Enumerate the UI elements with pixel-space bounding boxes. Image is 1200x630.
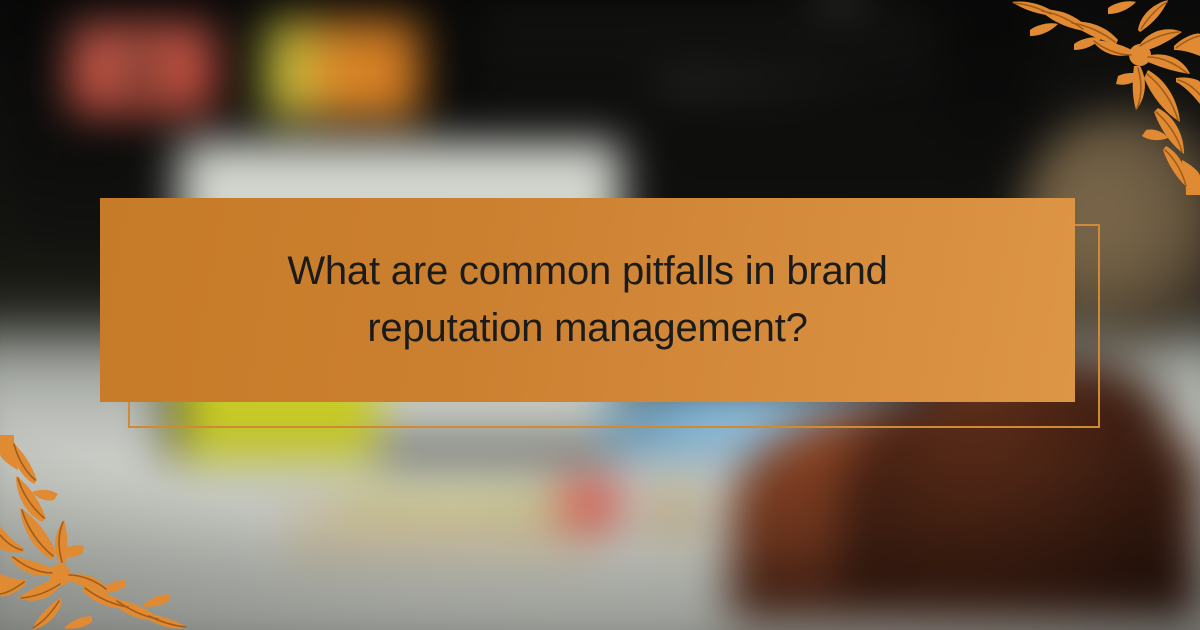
- background-desk-wood: [290, 500, 590, 560]
- share-card-canvas: What are common pitfalls in brand reputa…: [0, 0, 1200, 630]
- background-pencil: [340, 495, 580, 507]
- background-dark-screen: [480, 0, 940, 120]
- background-orange-poster: [265, 18, 420, 116]
- question-card: What are common pitfalls in brand reputa…: [100, 198, 1075, 402]
- background-red-poster: [70, 22, 215, 112]
- background-shelf-line: [660, 78, 860, 88]
- background-cup: [650, 480, 696, 538]
- background-red-mug: [560, 478, 620, 530]
- question-text: What are common pitfalls in brand reputa…: [238, 243, 938, 357]
- background-screen-glow: [805, 0, 875, 12]
